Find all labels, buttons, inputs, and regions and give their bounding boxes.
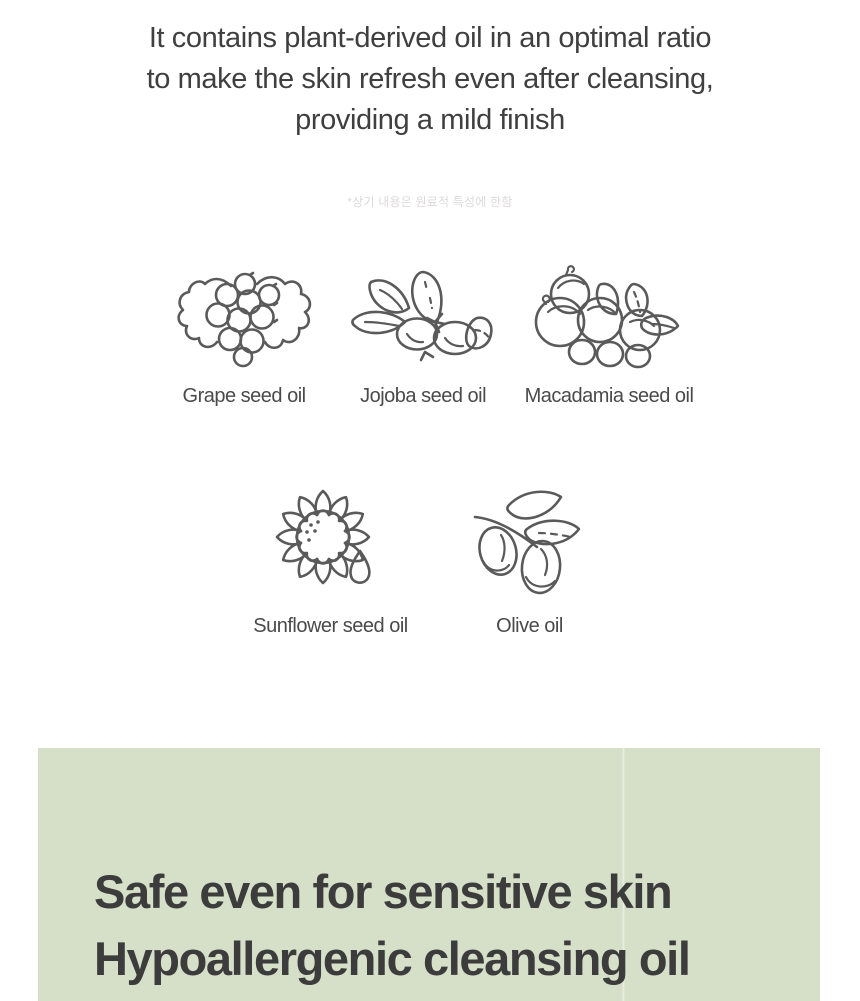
ingredient-label: Grape seed oil — [183, 384, 306, 408]
headline-line-3: providing a mild finish — [0, 100, 860, 141]
banner-title: Safe even for sensitive skin Hypoallerge… — [94, 858, 689, 992]
olive-icon — [452, 482, 607, 600]
grape-icon — [167, 258, 322, 370]
ingredient-sunflower-seed-oil: Sunflower seed oil — [253, 482, 408, 638]
ingredient-jojoba-seed-oil: Jojoba seed oil — [346, 258, 501, 408]
ingredient-grape-seed-oil: Grape seed oil — [167, 258, 322, 408]
ingredient-label: Jojoba seed oil — [360, 384, 486, 408]
page-headline: It contains plant-derived oil in an opti… — [0, 18, 860, 141]
sunflower-icon — [253, 482, 408, 600]
disclaimer-fineprint: *상기 내용은 원료적 특성에 한함 — [0, 193, 860, 210]
ingredient-row-primary: Grape seed oil — [0, 258, 860, 408]
ingredient-olive-oil: Olive oil — [452, 482, 607, 638]
ingredient-macadamia-seed-oil: Macadamia seed oil — [525, 258, 694, 408]
ingredient-row-secondary: Sunflower seed oil Olive oi — [0, 482, 860, 638]
banner-title-line-1: Safe even for sensitive skin — [94, 858, 689, 925]
ingredient-label: Macadamia seed oil — [525, 384, 694, 408]
jojoba-icon — [346, 258, 501, 370]
headline-line-2: to make the skin refresh even after clea… — [0, 59, 860, 100]
banner-title-line-2: Hypoallergenic cleansing oil — [94, 925, 689, 992]
macadamia-icon — [532, 258, 687, 370]
ingredient-label: Olive oil — [496, 614, 563, 638]
hypoallergenic-banner: Safe even for sensitive skin Hypoallerge… — [38, 748, 820, 1001]
ingredient-label: Sunflower seed oil — [253, 614, 407, 638]
headline-line-1: It contains plant-derived oil in an opti… — [0, 18, 860, 59]
